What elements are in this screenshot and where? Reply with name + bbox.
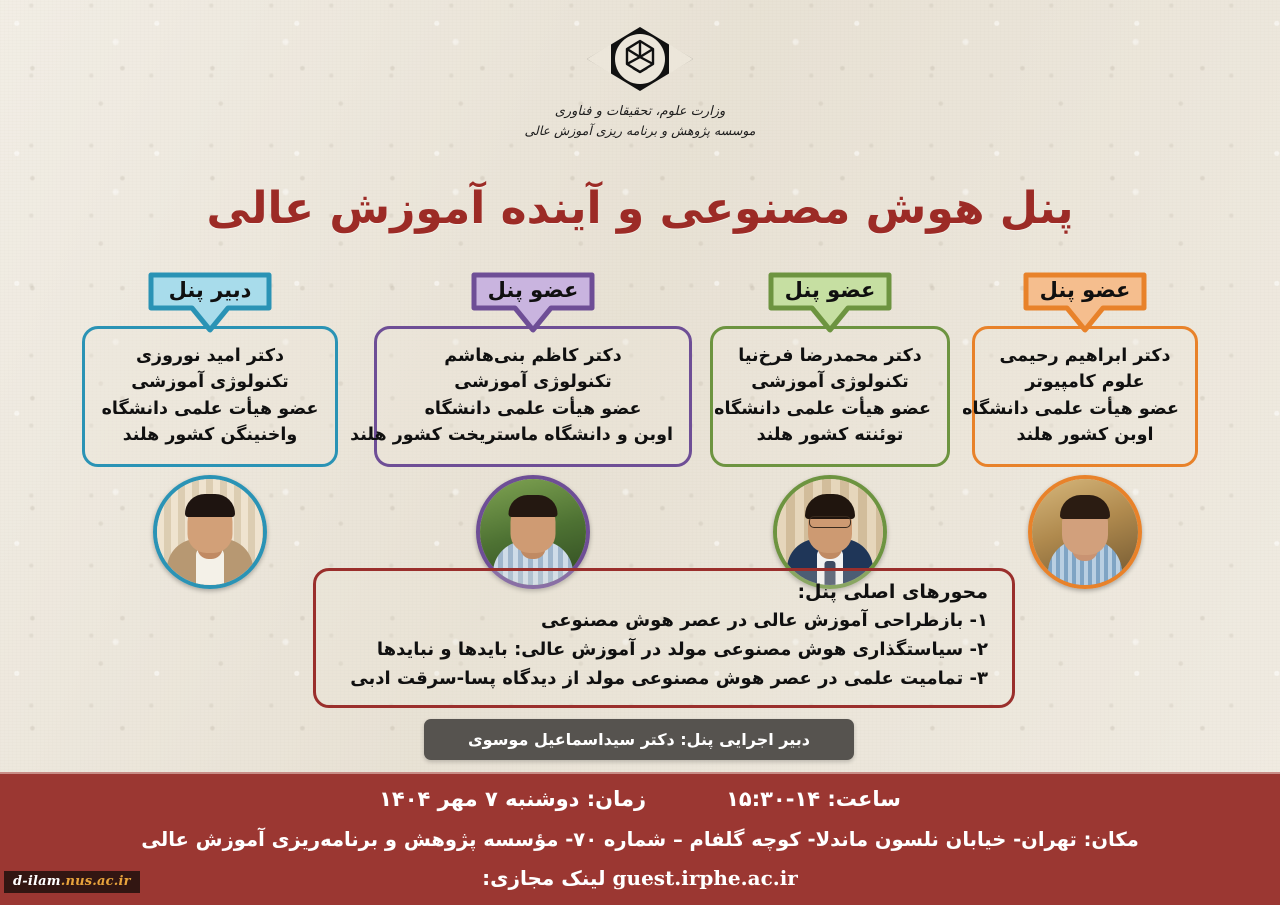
watermark-part1: d-ilam <box>13 874 61 889</box>
panelists-row: عضو پنل دکتر ابراهیم رحیمی علوم کامپیوتر… <box>0 272 1280 572</box>
panelist-card-4[interactable]: دبیر پنل دکتر امید نوروزی تکنولوژی آموزش… <box>82 272 338 589</box>
panelist-affiliation1-3: عضو هیأت علمی دانشگاه <box>393 396 673 422</box>
panelist-affiliation2-4: واخنینگن کشور هلند <box>101 422 319 448</box>
panelist-role-label-4: دبیر پنل <box>82 278 338 302</box>
panelist-info-box-2: دکتر محمدرضا فرخ‌نیا تکنولوژی آموزشی عضو… <box>710 326 950 467</box>
panelist-affiliation1-4: عضو هیأت علمی دانشگاه <box>101 396 319 422</box>
panelist-role-label-3: عضو پنل <box>374 278 692 302</box>
panelist-affiliation1-1: عضو هیأت علمی دانشگاه <box>991 396 1179 422</box>
topics-heading: محورهای اصلی پنل: <box>340 581 988 603</box>
panelist-name-1: دکتر ابراهیم رحیمی <box>991 343 1179 369</box>
footer-datetime-row: ساعت: ۱۴-۱۵:۳۰ زمان: دوشنبه ۷ مهر ۱۴۰۴ <box>0 787 1280 811</box>
poster-canvas: وزارت علوم، تحقیقات و فناوری موسسه پژوهش… <box>0 0 1280 905</box>
panelist-role-badge-1: عضو پنل <box>972 272 1198 334</box>
header-logo-block: وزارت علوم، تحقیقات و فناوری موسسه پژوهش… <box>0 24 1280 138</box>
panelist-name-3: دکتر کاظم بنی‌هاشم <box>393 343 673 369</box>
panelist-name-2: دکتر محمدرضا فرخ‌نیا <box>729 343 931 369</box>
panelist-name-4: دکتر امید نوروزی <box>101 343 319 369</box>
panelist-field-4: تکنولوژی آموزشی <box>101 369 319 395</box>
topic-item-2: ۲- سیاستگذاری هوش مصنوعی مولد در آموزش ع… <box>340 635 988 664</box>
panelist-field-2: تکنولوژی آموزشی <box>729 369 931 395</box>
panelist-field-1: علوم کامپیوتر <box>991 369 1179 395</box>
topic-item-1: ۱- بازطراحی آموزش عالی در عصر هوش مصنوعی <box>340 606 988 635</box>
panelist-role-badge-2: عضو پنل <box>710 272 950 334</box>
main-topics-box: محورهای اصلی پنل: ۱- بازطراحی آموزش عالی… <box>313 568 1015 708</box>
event-footer: ساعت: ۱۴-۱۵:۳۰ زمان: دوشنبه ۷ مهر ۱۴۰۴ م… <box>0 772 1280 905</box>
panelist-affiliation2-1: اوبن کشور هلند <box>991 422 1179 448</box>
panelist-role-badge-4: دبیر پنل <box>82 272 338 334</box>
panelist-card-1[interactable]: عضو پنل دکتر ابراهیم رحیمی علوم کامپیوتر… <box>972 272 1198 589</box>
footer-link-url[interactable]: guest.irphe.ac.ir <box>613 866 798 890</box>
panelist-info-box-1: دکتر ابراهیم رحیمی علوم کامپیوتر عضو هیأ… <box>972 326 1198 467</box>
ministry-hexagon-logo <box>581 24 699 98</box>
panelist-affiliation1-2: عضو هیأت علمی دانشگاه <box>729 396 931 422</box>
panelist-card-2[interactable]: عضو پنل دکتر محمدرضا فرخ‌نیا تکنولوژی آم… <box>710 272 950 589</box>
footer-link-row[interactable]: guest.irphe.ac.ir لینک مجازی: <box>0 866 1280 890</box>
panelist-role-label-1: عضو پنل <box>972 278 1198 302</box>
executive-secretary-bar: دبیر اجرایی پنل: دکتر سیداسماعیل موسوی <box>424 719 854 760</box>
topic-item-3: ۳- تمامیت علمی در عصر هوش مصنوعی مولد از… <box>340 664 988 693</box>
panelist-card-3[interactable]: عضو پنل دکتر کاظم بنی‌هاشم تکنولوژی آموز… <box>374 272 692 589</box>
institute-name: موسسه پژوهش و برنامه ریزی آموزش عالی <box>525 123 756 138</box>
panelist-affiliation2-3: اوبن و دانشگاه ماستریخت کشور هلند <box>393 422 673 448</box>
panelist-info-box-3: دکتر کاظم بنی‌هاشم تکنولوژی آموزشی عضو ه… <box>374 326 692 467</box>
site-watermark: d-ilam.nus.ac.ir <box>4 871 140 893</box>
footer-link-label: لینک مجازی: <box>482 866 605 890</box>
panelist-info-box-4: دکتر امید نوروزی تکنولوژی آموزشی عضو هیأ… <box>82 326 338 467</box>
panelist-role-label-2: عضو پنل <box>710 278 950 302</box>
panelist-role-badge-3: عضو پنل <box>374 272 692 334</box>
panelist-field-3: تکنولوژی آموزشی <box>393 369 673 395</box>
poster-title: پنل هوش مصنوعی و آینده آموزش عالی <box>0 183 1280 234</box>
panelist-avatar-1 <box>1028 475 1142 589</box>
footer-date: زمان: دوشنبه ۷ مهر ۱۴۰۴ <box>379 787 646 811</box>
panelist-photo-wrap-4 <box>82 475 338 589</box>
panelist-avatar-4 <box>153 475 267 589</box>
watermark-part2: .nus.ac.ir <box>61 874 131 889</box>
footer-address: مکان: تهران- خیابان نلسون ماندلا- کوچه گ… <box>0 828 1280 851</box>
panelist-affiliation2-2: توئنته کشور هلند <box>729 422 931 448</box>
ministry-name: وزارت علوم، تحقیقات و فناوری <box>555 104 726 119</box>
footer-time: ساعت: ۱۴-۱۵:۳۰ <box>726 787 901 811</box>
